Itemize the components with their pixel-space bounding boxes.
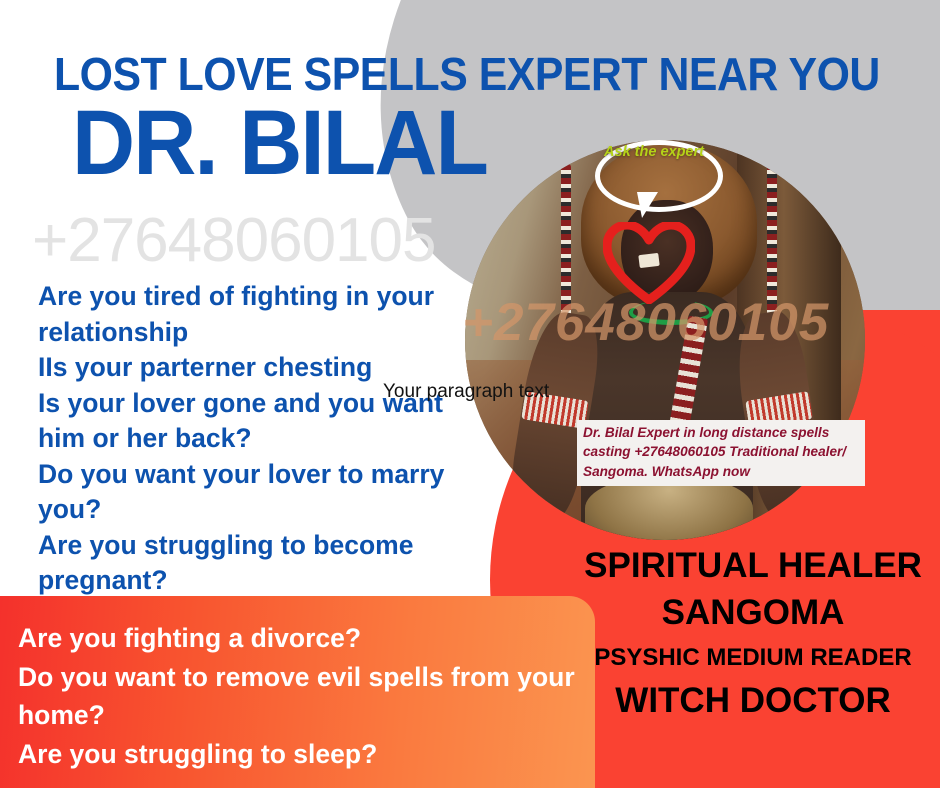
list-item: Are you struggling to become pregnant? — [38, 528, 468, 599]
service-witch-doctor: WITCH DOCTOR — [566, 680, 940, 721]
paragraph-placeholder-text: Your paragraph text — [383, 381, 549, 403]
list-item: Are you tired of fighting in your relati… — [38, 279, 468, 350]
speech-bubble-tail-icon — [637, 192, 658, 218]
orange-question-card-text: Are you fighting a divorce? Do you want … — [18, 619, 578, 774]
question-list-left: Are you tired of fighting in your relati… — [38, 279, 468, 599]
poster-brand-name: DR. BILAL — [72, 97, 487, 189]
photo-caption: Dr. Bilal Expert in long distance spells… — [577, 420, 865, 486]
phone-number-ghost: +27648060105 — [32, 210, 436, 272]
phone-number-watermark: +27648060105 — [462, 292, 829, 353]
service-sangoma: SANGOMA — [566, 592, 940, 633]
speech-bubble-label: Ask the expert — [600, 143, 708, 163]
service-spiritual-healer: SPIRITUAL HEALER — [566, 545, 940, 586]
service-psychic-medium-reader: PSYSHIC MEDIUM READER — [566, 644, 940, 672]
list-item: Are you struggling to sleep? — [18, 735, 578, 774]
list-item: Are you fighting a divorce? — [18, 619, 578, 658]
poster-canvas: LOST LOVE SPELLS EXPERT NEAR YOU DR. BIL… — [0, 0, 940, 788]
services-list: SPIRITUAL HEALER SANGOMA PSYSHIC MEDIUM … — [566, 545, 940, 721]
list-item: Do you want your lover to marry you? — [38, 457, 468, 528]
list-item: Do you want to remove evil spells from y… — [18, 658, 578, 735]
